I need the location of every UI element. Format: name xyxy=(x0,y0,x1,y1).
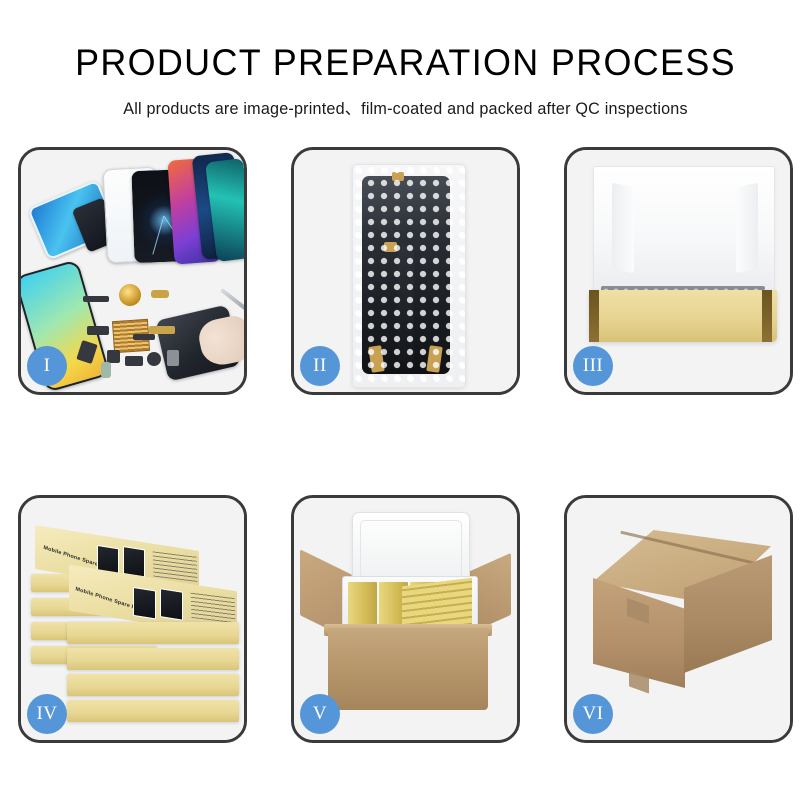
lid-flap-left xyxy=(612,183,634,274)
step-badge-1: I xyxy=(27,346,67,386)
white-box-lid-icon xyxy=(593,166,775,300)
step-badge-3: III xyxy=(573,346,613,386)
process-step-panel-1: I xyxy=(18,147,247,395)
tray-edge-left xyxy=(589,290,599,342)
header: PRODUCT PREPARATION PROCESS All products… xyxy=(0,0,811,119)
box-spec-lines-back xyxy=(153,550,198,582)
page-title: PRODUCT PREPARATION PROCESS xyxy=(12,44,799,83)
box-edge-5 xyxy=(67,622,239,644)
gold-coil-icon xyxy=(119,284,141,306)
box-screen-image-2 xyxy=(123,546,145,577)
part-module-icon xyxy=(87,326,109,335)
step-badge-5: V xyxy=(300,694,340,734)
step-badge-6: VI xyxy=(573,694,613,734)
process-step-panel-3: III xyxy=(564,147,793,395)
box-screen-image-4 xyxy=(160,588,183,621)
connector-top-icon xyxy=(392,172,404,181)
box-edge-6 xyxy=(67,648,239,670)
process-step-panel-4: Mobile Phone Spare Parts Mobile Phone Sp… xyxy=(18,495,247,743)
box-edge-8 xyxy=(67,700,239,722)
box-edge-7 xyxy=(67,674,239,696)
step-badge-4: IV xyxy=(27,694,67,734)
foam-lid-icon xyxy=(352,512,470,586)
flex-cable-icon xyxy=(398,246,414,362)
lid-flap-right xyxy=(736,183,758,274)
page-subtitle: All products are image-printed、film-coat… xyxy=(8,95,803,119)
part-ribbon-icon xyxy=(149,326,175,334)
process-steps-grid: I II xyxy=(18,147,793,743)
process-step-panel-6: VI xyxy=(564,495,793,743)
part-speaker-icon xyxy=(147,352,161,366)
part-battery-icon xyxy=(167,350,179,366)
step-badge-2: II xyxy=(300,346,340,386)
part-bracket-icon xyxy=(125,356,143,366)
box-spec-lines-front xyxy=(191,592,236,624)
part-connector-icon xyxy=(83,296,109,302)
process-step-panel-2: II xyxy=(291,147,520,395)
carton-front-panel xyxy=(328,628,488,710)
box-stack: Mobile Phone Spare Parts Mobile Phone Sp… xyxy=(31,526,241,726)
part-gold-clip-icon xyxy=(151,290,169,298)
process-step-panel-5: V xyxy=(291,495,520,743)
kraft-box-tray-icon xyxy=(589,290,777,342)
connector-mid-icon xyxy=(384,242,397,252)
box-screen-image-3 xyxy=(133,587,156,620)
part-antenna-icon xyxy=(133,334,155,340)
tray-edge-right xyxy=(762,290,772,342)
part-sim-tray-icon xyxy=(101,362,111,378)
part-chip-icon xyxy=(107,350,120,363)
